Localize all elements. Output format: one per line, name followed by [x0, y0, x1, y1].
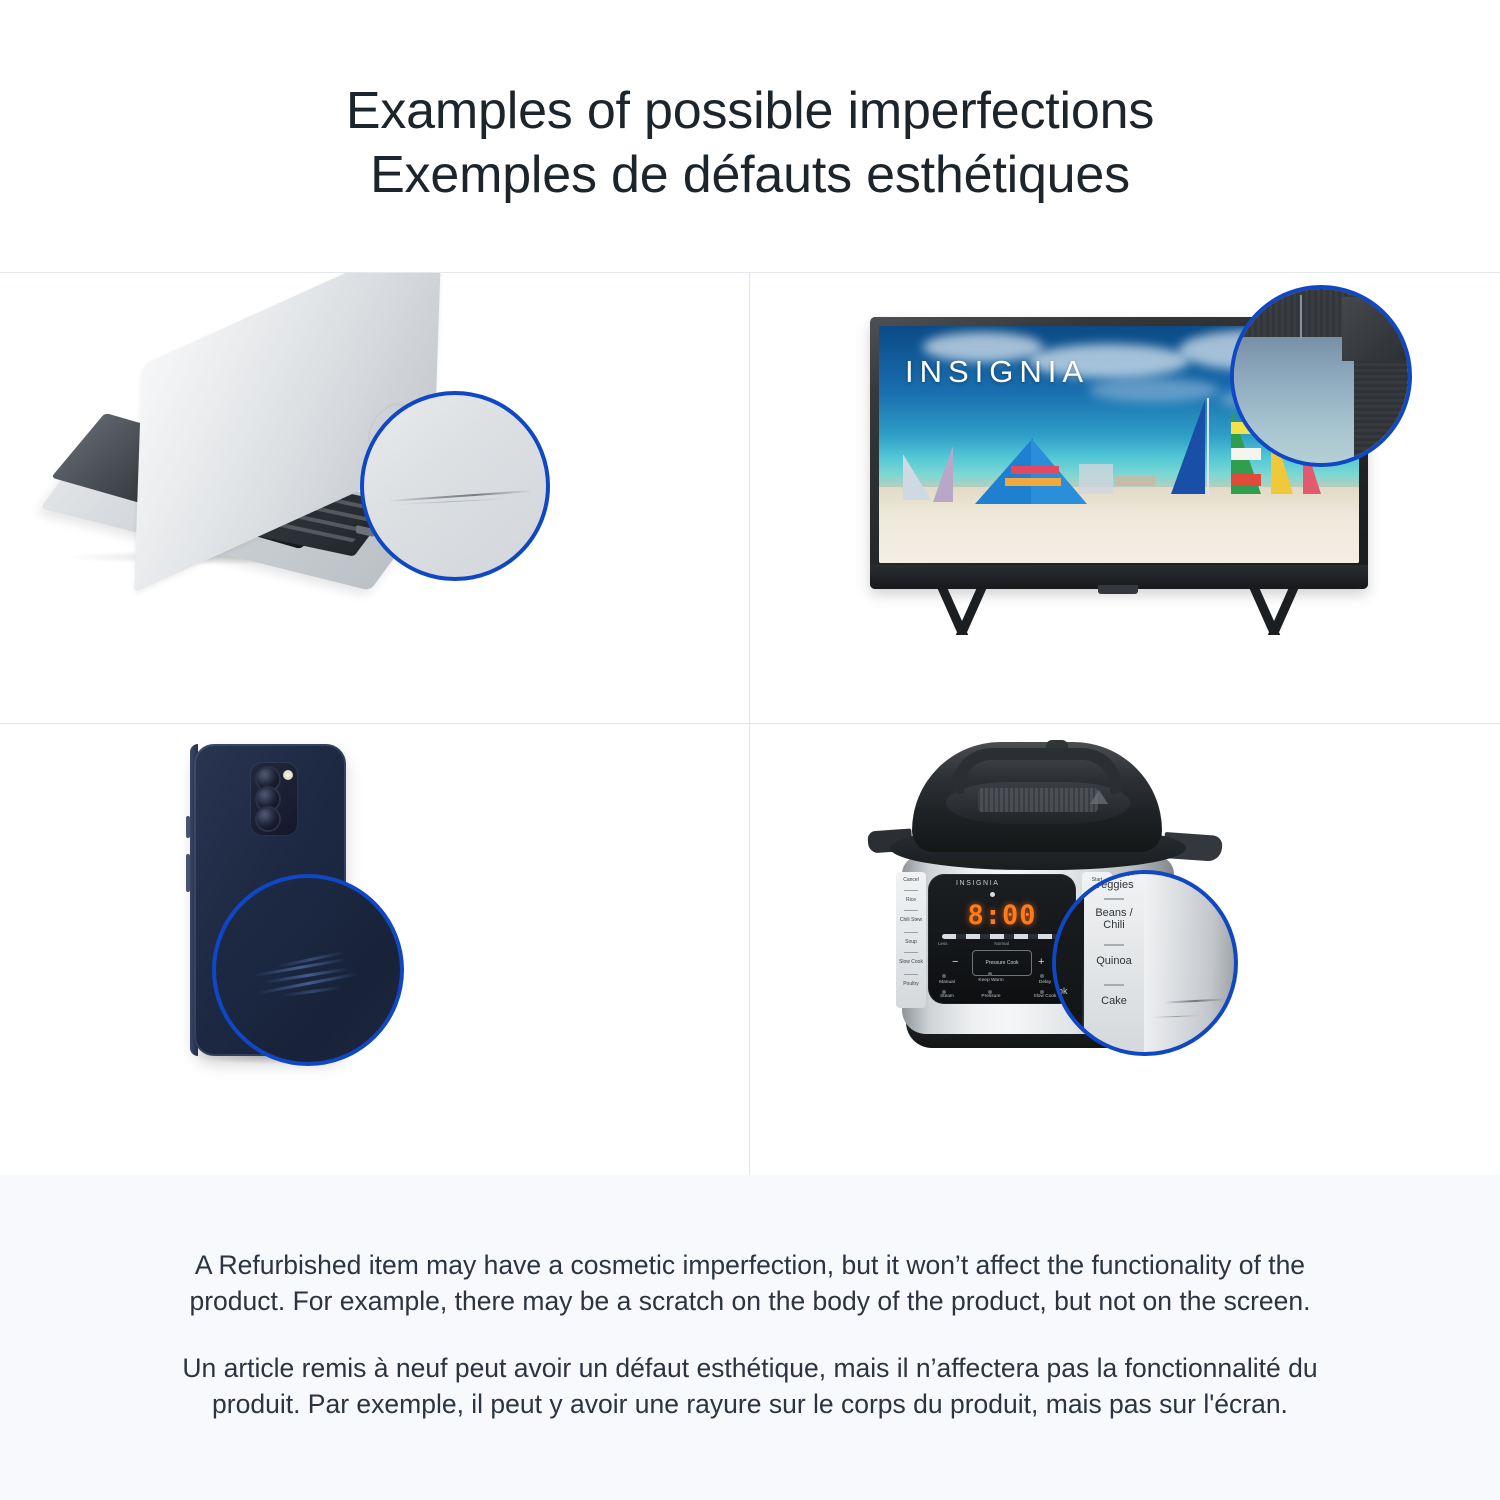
- cooker-brand-text: INSIGNIA: [956, 880, 1000, 887]
- example-cell-television: INSIGNIA: [750, 273, 1500, 724]
- cooker-button-keep-warm[interactable]: Keep Warm: [976, 978, 1006, 983]
- cooker-button-minus[interactable]: −: [952, 956, 958, 968]
- cooker-button-pressure-cook[interactable]: Pressure Cook: [972, 950, 1032, 976]
- television-illustration: INSIGNIA: [750, 273, 1500, 723]
- zoomed-button-beans-chili: Beans / Chili: [1084, 908, 1144, 931]
- phone-button-volume-up: [186, 816, 190, 838]
- phone-camera-module: [250, 762, 298, 836]
- laptop-illustration: [0, 273, 749, 723]
- magnifier-circle-pressure-cooker: Delay Slow Cook Steam Veggies Beans / Ch…: [1052, 870, 1238, 1056]
- zoomed-panel-dark: Delay Slow Cook: [1052, 870, 1082, 1056]
- cooker-button-rice[interactable]: Rice: [896, 898, 926, 903]
- footer-paragraph-english: A Refurbished item may have a cosmetic i…: [180, 1247, 1320, 1319]
- zoomed-button-cake: Cake: [1084, 996, 1144, 1008]
- example-cell-laptop: [0, 273, 750, 724]
- scratch-mark: [252, 952, 372, 994]
- zoomed-bezel-corner: [1342, 297, 1412, 361]
- zoomed-button-quinoa: Quinoa: [1084, 956, 1144, 968]
- cooker-button-soup[interactable]: Soup: [896, 940, 926, 945]
- magnifier-circle-laptop: [360, 391, 550, 581]
- cooker-button-chili-stew[interactable]: Chili Stew: [896, 918, 926, 923]
- cooker-button-steam[interactable]: Steam: [932, 994, 962, 999]
- magnifier-circle-smartphone: [212, 874, 404, 1066]
- scratch-mark: [1300, 295, 1302, 339]
- slider-label-normal: Normal: [994, 941, 1009, 946]
- cooker-button-poultry[interactable]: Poultry: [896, 982, 926, 987]
- cooker-status-led: [990, 892, 995, 897]
- footer-paragraph-french: Un article remis à neuf peut avoir un dé…: [180, 1350, 1320, 1422]
- cooker-button-plus[interactable]: +: [1038, 956, 1044, 968]
- page-title-french: Exemples de défauts esthétiques: [370, 145, 1130, 205]
- example-cell-smartphone: [0, 724, 750, 1175]
- page-title-english: Examples of possible imperfections: [346, 81, 1154, 141]
- slider-label-less: Less: [938, 941, 948, 946]
- phone-button-volume-down: [186, 854, 190, 892]
- scratch-mark-secondary: [1152, 1015, 1200, 1018]
- camera-flash-icon: [283, 770, 293, 780]
- cooker-lid-handle: [952, 748, 1122, 794]
- cooker-slider-labels: Less Normal More: [938, 941, 1066, 946]
- example-cell-pressure-cooker: INSIGNIA 8:00 Less Normal More Pressure …: [750, 724, 1500, 1175]
- tv-ir-receiver: [1098, 585, 1138, 594]
- camera-lens-icon: [257, 768, 279, 790]
- cooker-button-cancel[interactable]: Cancel: [896, 878, 926, 883]
- scratch-mark: [388, 491, 532, 501]
- cooker-digital-display: 8:00: [960, 900, 1044, 930]
- pressure-cooker-illustration: INSIGNIA 8:00 Less Normal More Pressure …: [750, 724, 1500, 1175]
- tv-foot-left-b: [956, 589, 986, 635]
- smartphone-illustration: [0, 724, 749, 1175]
- cooker-button-pressure[interactable]: Pressure: [976, 994, 1006, 999]
- cooker-level-slider[interactable]: [942, 934, 1062, 939]
- cooker-button-manual[interactable]: Manual: [932, 980, 962, 985]
- page-footer: A Refurbished item may have a cosmetic i…: [0, 1175, 1500, 1500]
- magnifier-circle-television: [1230, 285, 1412, 467]
- refurbished-imperfections-page: Examples of possible imperfections Exemp…: [0, 0, 1500, 1500]
- camera-lens-icon: [257, 808, 279, 830]
- page-header: Examples of possible imperfections Exemp…: [0, 0, 1500, 272]
- scratch-mark: [1164, 998, 1226, 1003]
- product-example-grid: INSIGNIA: [0, 272, 1500, 1175]
- tv-screen-brand-text: INSIGNIA: [905, 354, 1089, 390]
- cooker-button-slow-cook-left[interactable]: Slow Cook: [896, 960, 926, 965]
- camera-lens-icon: [257, 788, 279, 810]
- zoomed-button-steam-veggies: Steam Veggies: [1084, 870, 1144, 891]
- tv-foot-right-b: [1268, 589, 1298, 635]
